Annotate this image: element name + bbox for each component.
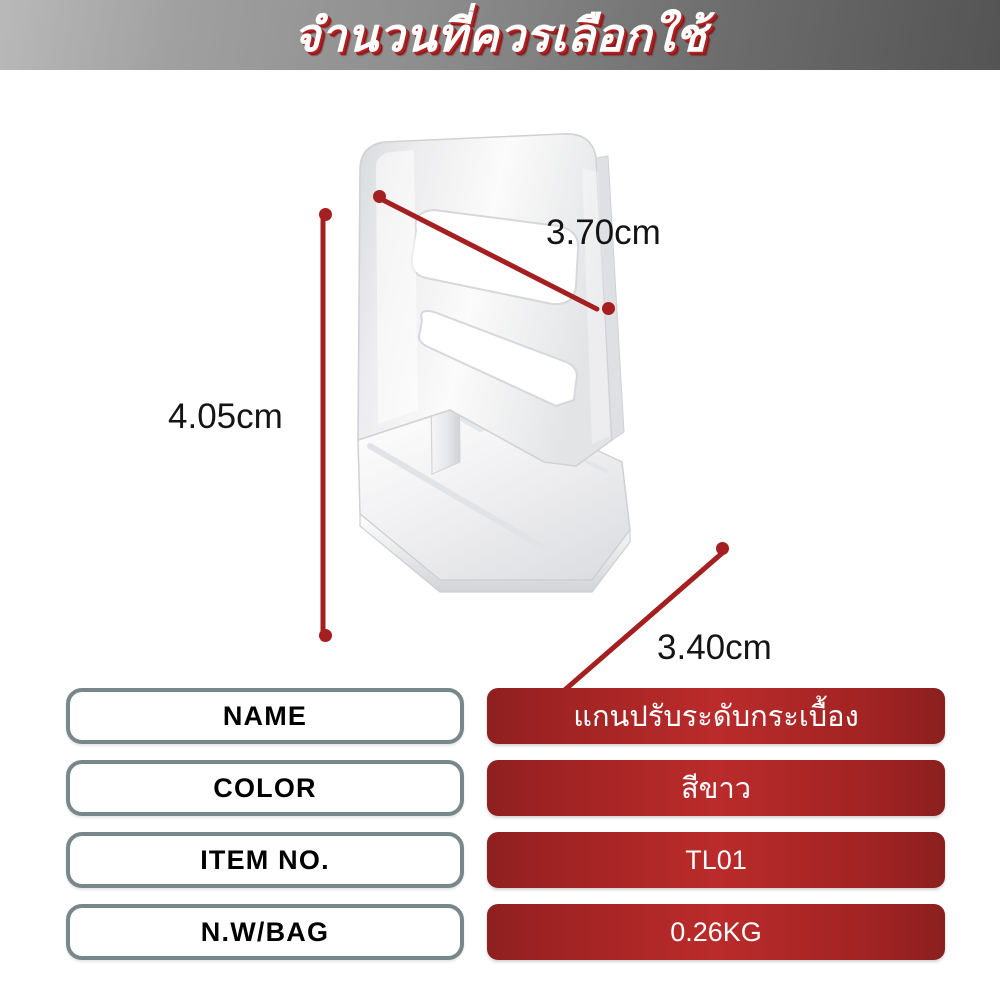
dim-dot-width-end (602, 302, 615, 315)
spec-value-item-no: TL01 (487, 832, 945, 888)
dim-dot-height-end (319, 629, 332, 642)
dim-dot-depth-end (716, 542, 729, 555)
spec-key-color: COLOR (66, 760, 464, 816)
spec-value-name: แกนปรับระดับกระเบื้อง (487, 688, 945, 744)
dim-label-width: 3.70cm (546, 213, 661, 253)
dim-label-height: 4.05cm (168, 397, 283, 437)
product-image-tile-leveling-clip (330, 110, 650, 610)
table-row: NAME แกนปรับระดับกระเบื้อง (0, 688, 1000, 744)
spec-value-color: สีขาว (487, 760, 945, 816)
table-row: COLOR สีขาว (0, 760, 1000, 816)
table-row: N.W/BAG 0.26KG (0, 904, 1000, 960)
table-row: ITEM NO. TL01 (0, 832, 1000, 888)
spec-value-net-weight: 0.26KG (487, 904, 945, 960)
spec-key-net-weight: N.W/BAG (66, 904, 464, 960)
dim-line-height (321, 217, 326, 642)
dim-label-depth: 3.40cm (657, 628, 772, 668)
spec-key-name: NAME (66, 688, 464, 744)
page-title: จำนวนที่ควรเลือกใช้ (0, 0, 1000, 70)
product-illustration-stage: 3.70cm 4.05cm 3.40cm (0, 70, 1000, 670)
specification-table: NAME แกนปรับระดับกระเบื้อง COLOR สีขาว I… (0, 670, 1000, 1000)
spec-key-item-no: ITEM NO. (66, 832, 464, 888)
